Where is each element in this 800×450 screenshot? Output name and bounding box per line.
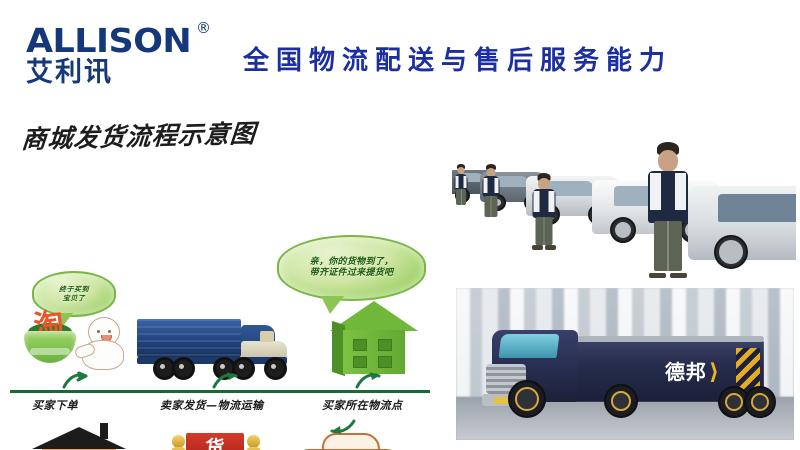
flow-arrow-icon	[62, 371, 88, 391]
staff-member	[532, 176, 556, 246]
staff-head-icon	[458, 167, 465, 174]
flow-caption-shipment: 卖家发货—物流运输	[160, 397, 264, 413]
staff-uniform-icon	[533, 189, 556, 218]
house-window-icon	[353, 339, 367, 351]
house-window-icon	[353, 356, 367, 368]
buyer-baby-icon	[78, 317, 126, 369]
staff-legs-icon	[654, 221, 682, 271]
staff-legs-icon	[485, 196, 498, 217]
flow-arrow-icon	[212, 371, 238, 391]
truck-window-icon	[260, 331, 274, 342]
staff-legs-icon	[456, 189, 466, 205]
basket-bowl-icon	[24, 331, 76, 363]
speech-bubble-buyer-text: 终于买到 宝贝了	[34, 285, 114, 303]
staff-legs-icon	[536, 217, 553, 245]
cargo-box-icon: 货	[186, 433, 244, 450]
flow-arrow-icon	[330, 417, 356, 437]
deppon-logistics-truck-photo: 德邦⟩	[456, 288, 794, 440]
truck-wheel-icon	[744, 386, 776, 418]
staff-member	[454, 166, 468, 206]
house-roof-icon	[32, 427, 126, 449]
speech-bubble-station-text: 亲，你的货物到了， 带齐证件过来提货吧	[279, 257, 424, 280]
staff-uniform-icon	[455, 174, 468, 190]
staff-member-foreground	[648, 146, 688, 274]
house-window-icon	[378, 339, 392, 351]
staff-uniform-icon	[483, 176, 500, 197]
truck-wheel-icon	[264, 357, 287, 380]
truck-brand-mark-icon: ⟩	[709, 359, 720, 385]
taobao-basket-icon: 淘	[22, 305, 78, 365]
page-title: 全国物流配送与售后服务能力	[243, 40, 763, 77]
vehicle-wheel-icon	[714, 235, 748, 269]
truck-windshield-icon	[499, 334, 560, 358]
house-window-icon	[378, 356, 392, 368]
staff-shoe-icon	[670, 273, 687, 278]
slide-canvas: ALLISON ® 艾利讯 全国物流配送与售后服务能力 商城发货流程示意图 终于…	[0, 0, 800, 450]
staff-shoe-icon	[532, 245, 542, 250]
logistics-station-house-icon	[330, 301, 418, 377]
cargo-box-label: 货	[186, 433, 244, 450]
fleet-vehicle	[688, 186, 796, 260]
trailer-roof-icon	[574, 336, 764, 342]
baby-eye-right-icon	[108, 330, 111, 333]
staff-head-icon	[658, 150, 678, 172]
staff-shoe-icon	[545, 245, 555, 250]
carrier-person-icon	[242, 435, 264, 450]
truck-brand-logo: 德邦⟩	[665, 356, 720, 385]
truck-wheel-icon	[604, 384, 638, 418]
staff-uniform-icon	[648, 171, 688, 223]
buyer-home-icon	[36, 427, 122, 450]
truck-trailer-icon	[137, 319, 241, 357]
truck-wheel-icon	[172, 357, 195, 380]
shipping-flow-diagram: 商城发货流程示意图 终于买到 宝贝了 亲，你的货物到了， 带齐证件过来提货吧 淘	[0, 105, 440, 425]
registered-trademark-icon: ®	[196, 19, 211, 37]
logo-wordmark-cn: 艾利讯	[26, 59, 216, 87]
flow-caption-station: 买家所在物流点	[322, 397, 403, 413]
cargo-carriers-icon: 货	[168, 427, 264, 450]
staff-member	[482, 166, 500, 218]
vehicle-wheel-icon	[610, 217, 636, 243]
company-logo: ALLISON ® 艾利讯	[26, 24, 216, 90]
flow-caption-order: 买家下单	[32, 397, 78, 413]
flow-arrow-icon	[355, 371, 381, 391]
flow-diagram-heading: 商城发货流程示意图	[20, 114, 257, 156]
baby-eye-left-icon	[97, 330, 100, 333]
speech-bubble-station: 亲，你的货物到了， 带齐证件过来提货吧	[277, 235, 426, 301]
logistics-truck-icon	[137, 317, 292, 379]
truck-brand-text: 德邦	[665, 360, 707, 384]
service-vehicle-fleet-photo	[452, 108, 796, 278]
truck-wheel-icon	[508, 380, 546, 418]
staff-shoe-icon	[649, 273, 666, 278]
vehicle-window-icon	[718, 194, 796, 222]
